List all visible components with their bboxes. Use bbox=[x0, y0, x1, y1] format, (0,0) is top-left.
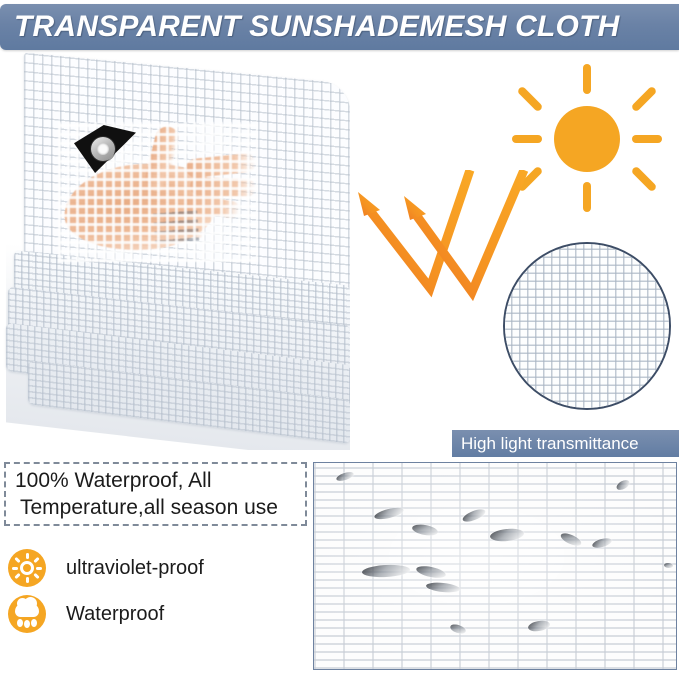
sun-core bbox=[20, 561, 34, 575]
product-photo bbox=[0, 52, 350, 450]
sun-ray-se bbox=[33, 573, 39, 579]
benefit-label-uv: ultraviolet-proof bbox=[66, 557, 204, 580]
transmittance-band: High light transmittance bbox=[452, 430, 679, 457]
droplet-highlight bbox=[314, 463, 676, 669]
sun-ray-nw bbox=[14, 557, 20, 563]
sun-ray-e bbox=[632, 135, 662, 143]
magnified-mesh-inset bbox=[503, 242, 671, 410]
rain-drop-2 bbox=[24, 620, 30, 628]
grommet-hole bbox=[97, 143, 109, 155]
sun-ray-se bbox=[631, 166, 658, 193]
inset-mesh-overlay bbox=[503, 242, 671, 410]
sun-icon bbox=[8, 549, 46, 587]
feature-line-2: Temperature,all season use bbox=[6, 494, 305, 521]
page-title: TRANSPARENT SUNSHADEMESH CLOTH bbox=[0, 10, 619, 44]
sun-ray-e bbox=[36, 567, 42, 570]
sun-ray-nw bbox=[517, 86, 544, 113]
sun-ray-s bbox=[26, 577, 29, 583]
sun-ray-s bbox=[583, 182, 591, 212]
transmittance-label: High light transmittance bbox=[452, 434, 639, 454]
rain-drop-3 bbox=[31, 619, 37, 627]
sun-ray-ne bbox=[631, 86, 658, 113]
benefit-row-uv: ultraviolet-proof bbox=[8, 545, 308, 591]
sun-ray-sw bbox=[14, 573, 20, 579]
rain-cloud-icon bbox=[8, 595, 46, 633]
water-droplet-photo bbox=[313, 462, 677, 670]
sun-ray-w bbox=[512, 135, 542, 143]
water-droplet bbox=[664, 563, 673, 569]
header-banner: TRANSPARENT SUNSHADEMESH CLOTH bbox=[0, 4, 679, 50]
sun-ray-ne bbox=[33, 557, 39, 563]
sun-ray-n bbox=[26, 553, 29, 559]
benefit-row-waterproof: Waterproof bbox=[8, 591, 308, 637]
feature-line-1: 100% Waterproof, All bbox=[6, 467, 305, 494]
sun-ray-w bbox=[12, 567, 18, 570]
rain-drop-1 bbox=[17, 619, 23, 627]
feature-callout-box: 100% Waterproof, All Temperature,all sea… bbox=[4, 462, 307, 526]
sun-ray-n bbox=[583, 64, 591, 94]
benefits-list: ultraviolet-proof Waterproof bbox=[8, 545, 308, 637]
tarp-stack bbox=[6, 62, 350, 442]
cloud-shape bbox=[15, 603, 39, 617]
benefit-label-waterproof: Waterproof bbox=[66, 603, 164, 626]
sun-core bbox=[554, 106, 620, 172]
